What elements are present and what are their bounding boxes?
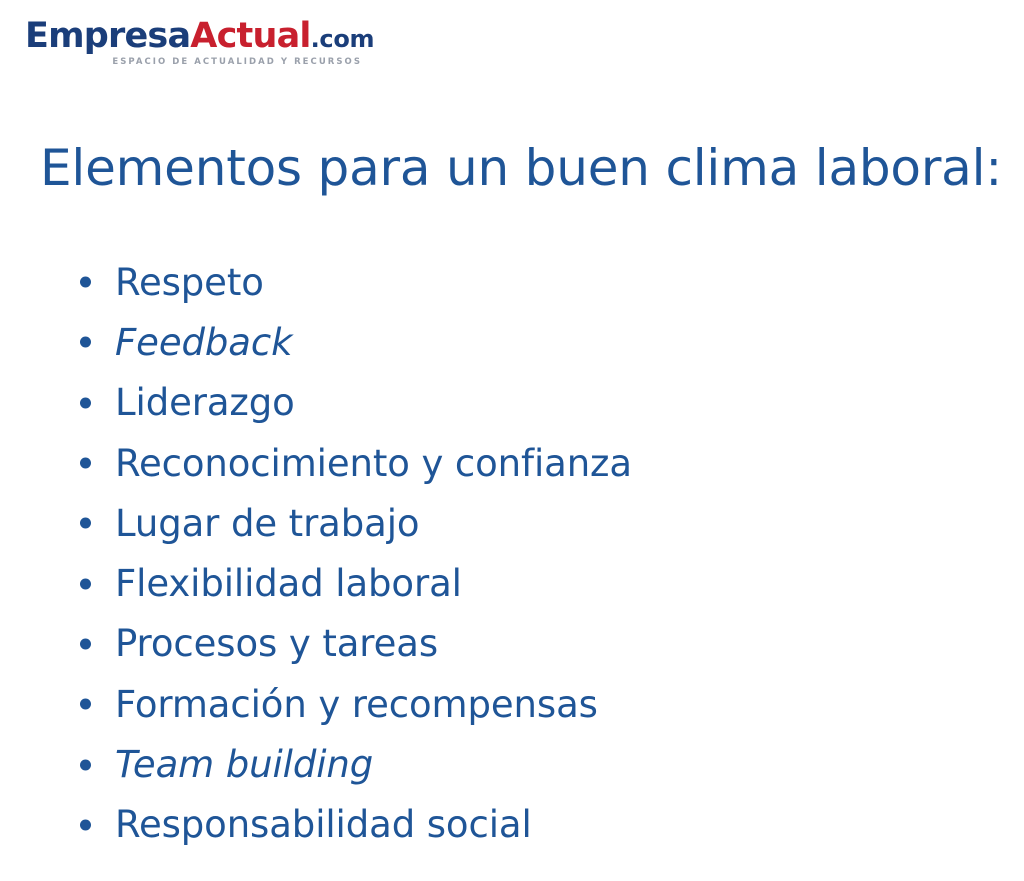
bullet-dot-icon: [80, 759, 91, 770]
bullet-dot-icon: [80, 578, 91, 589]
list-item: Team building: [72, 734, 972, 794]
list-item: Responsabilidad social: [72, 795, 972, 855]
list-item-label: Formación y recompensas: [115, 686, 598, 723]
list-item-label: Responsabilidad social: [115, 806, 532, 843]
slide-canvas: EmpresaActual.com ESPACIO DE ACTUALIDAD …: [0, 0, 1024, 881]
list-item: Lugar de trabajo: [72, 493, 972, 553]
logo-word-actual: Actual: [190, 16, 310, 56]
bullet-dot-icon: [80, 458, 91, 469]
bullet-dot-icon: [80, 277, 91, 288]
logo-wordmark: EmpresaActual.com: [25, 18, 385, 55]
list-item-label: Reconocimiento y confianza: [115, 445, 632, 482]
bullet-dot-icon: [80, 819, 91, 830]
logo-word-dotcom: .com: [311, 25, 375, 53]
list-item-label: Feedback: [115, 324, 292, 361]
list-item-label: Flexibilidad laboral: [115, 565, 462, 602]
list-item: Procesos y tareas: [72, 614, 972, 674]
bullet-dot-icon: [80, 699, 91, 710]
bullet-dot-icon: [80, 337, 91, 348]
list-item: Flexibilidad laboral: [72, 553, 972, 613]
list-item: Reconocimiento y confianza: [72, 433, 972, 493]
list-item: Respeto: [72, 252, 972, 312]
list-item: Formación y recompensas: [72, 674, 972, 734]
logo-word-empresa: Empresa: [25, 16, 190, 56]
bullet-dot-icon: [80, 518, 91, 529]
list-item-label: Procesos y tareas: [115, 625, 438, 662]
list-item-label: Liderazgo: [115, 384, 295, 421]
elements-list: Respeto Feedback Liderazgo Reconocimient…: [72, 252, 972, 855]
bullet-dot-icon: [80, 397, 91, 408]
list-item-label: Team building: [115, 746, 373, 783]
bullet-dot-icon: [80, 638, 91, 649]
list-item-label: Respeto: [115, 264, 264, 301]
list-item: Liderazgo: [72, 373, 972, 433]
site-logo[interactable]: EmpresaActual.com ESPACIO DE ACTUALIDAD …: [25, 18, 385, 76]
page-title: Elementos para un buen clima laboral:: [40, 138, 1002, 198]
list-item: Feedback: [72, 312, 972, 372]
logo-tagline: ESPACIO DE ACTUALIDAD Y RECURSOS: [25, 58, 362, 67]
list-item-label: Lugar de trabajo: [115, 505, 419, 542]
